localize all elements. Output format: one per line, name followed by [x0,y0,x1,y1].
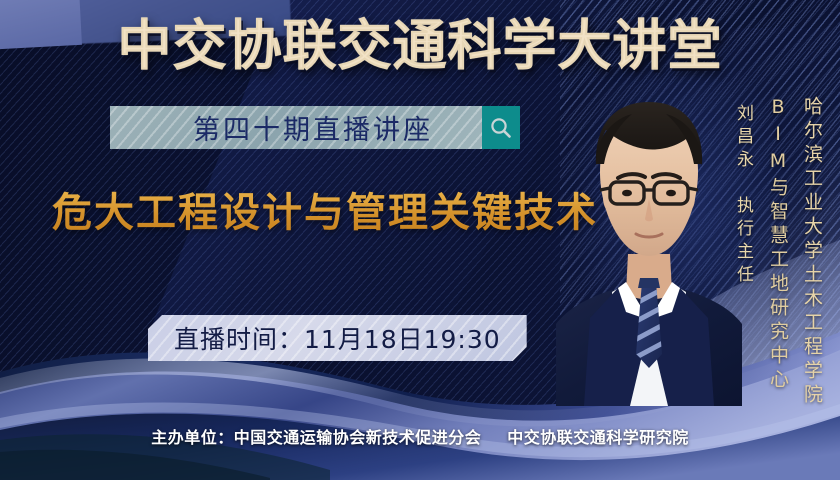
subtitle-box: 第四十期直播讲座 [110,106,482,149]
footer-organizers: 主办单位：中国交通运输协会新技术促进分会中交协联交通科学研究院 [0,424,840,448]
webinar-poster: 中交协联交通科学大讲堂 第四十期直播讲座 危大工程设计与管理关键技术 直播时间：… [0,0,840,480]
subtitle-bar: 第四十期直播讲座 [110,106,520,149]
lecture-headline: 危大工程设计与管理关键技术 [52,190,598,236]
page-title: 中交协联交通科学大讲堂 [0,16,840,76]
speaker-affiliation: 哈尔滨工业大学土木工程学院 [799,96,826,408]
live-time-text: 直播时间：11月18日19:30 [174,320,501,356]
search-icon-container[interactable] [482,106,520,149]
footer-co-organizer: 中交协联交通科学研究院 [507,428,689,447]
search-icon [489,116,513,140]
footer-organizer: 主办单位：中国交通运输协会新技术促进分会 [151,428,481,447]
live-time-pill: 直播时间：11月18日19:30 [148,315,527,361]
subtitle-label: 第四十期直播讲座 [159,108,433,147]
speaker-role: 执行主任 [731,196,756,288]
speaker-research-center: BIM与智慧工地研究中心 [765,96,792,393]
speaker-portrait [556,86,742,406]
speaker-name: 刘昌永 [731,104,756,173]
